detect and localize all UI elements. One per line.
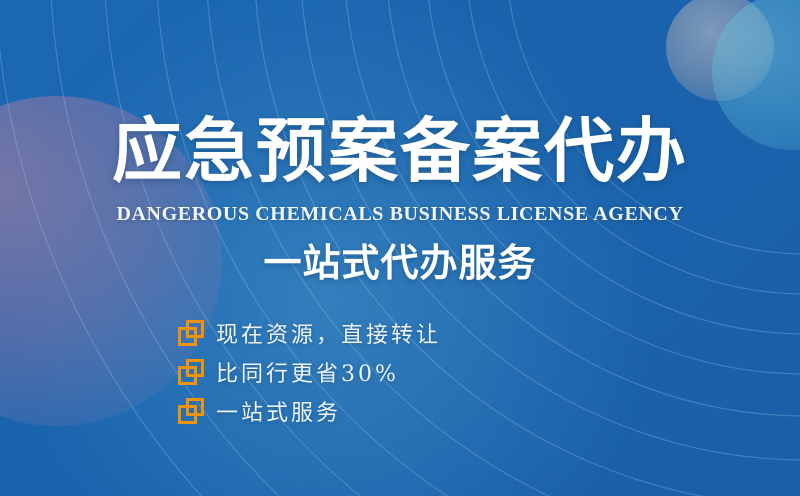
overlapping-squares-icon [178, 398, 204, 424]
overlapping-squares-icon [178, 359, 204, 385]
list-item-label: 比同行更省30% [216, 356, 399, 388]
list-item: 现在资源，直接转让 [178, 318, 441, 348]
promotional-banner: 应急预案备案代办 DANGEROUS CHEMICALS BUSINESS LI… [0, 0, 800, 496]
subtitle-english: DANGEROUS CHEMICALS BUSINESS LICENSE AGE… [0, 203, 800, 226]
subtitle-chinese: 一站式代办服务 [0, 244, 800, 286]
list-item-label: 一站式服务 [216, 395, 341, 427]
list-item: 比同行更省30% [178, 357, 441, 387]
overlapping-squares-icon [178, 320, 204, 346]
feature-list: 现在资源，直接转让 比同行更省30% 一站式服务 [178, 318, 441, 426]
list-item: 一站式服务 [178, 396, 441, 426]
page-title: 应急预案备案代办 [0, 116, 800, 186]
list-item-label: 现在资源，直接转让 [216, 317, 441, 349]
